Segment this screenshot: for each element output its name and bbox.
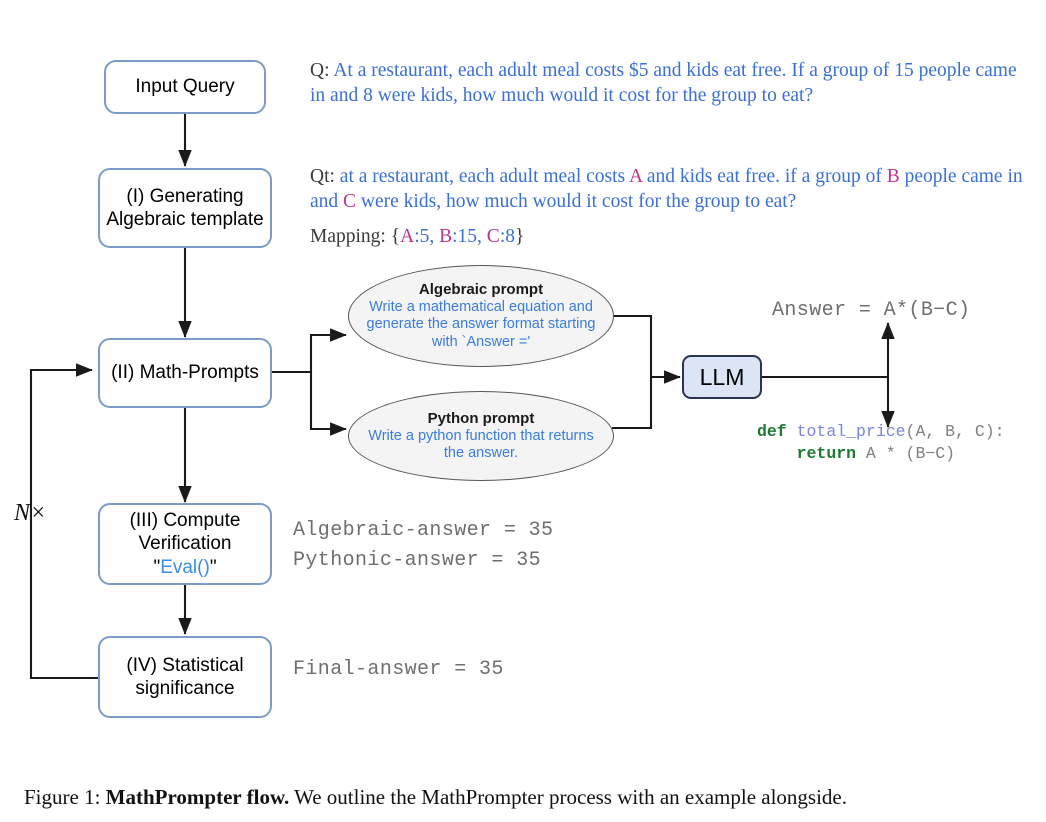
example-template-var-b: B (887, 166, 900, 187)
example-mapping-close: } (515, 226, 524, 247)
result-algebraic-answer: Algebraic-answer = 35 (293, 519, 553, 542)
line-python-to-merge (612, 377, 651, 428)
example-mapping-b-key: B (439, 226, 452, 247)
algebraic-prompt-body: Write a mathematical equation and genera… (357, 299, 606, 350)
arrow-to-algebraic-prompt (311, 335, 346, 372)
node-step3-line2: Verification (139, 533, 232, 554)
code-function-name: total_price (787, 422, 906, 441)
example-template-var-a: A (629, 166, 642, 187)
node-step1-line2: Algebraic template (106, 209, 263, 230)
algebraic-prompt-line1: Write a mathematical equation and (369, 299, 593, 315)
example-mapping-a-key: A (400, 226, 414, 247)
node-step3-compute-verification[interactable]: (III) Compute Verification "Eval()" (98, 503, 272, 585)
example-mapping-open: { (391, 226, 400, 247)
node-python-prompt[interactable]: Python prompt Write a python function th… (348, 391, 614, 481)
node-step4-line2: significance (135, 678, 234, 699)
node-step1-generating-algebraic-template[interactable]: (I) Generating Algebraic template (98, 168, 272, 248)
figure-caption-prefix: Figure 1: (24, 785, 100, 809)
code-keyword-return: return (797, 444, 856, 463)
example-template-var-c: C (343, 191, 356, 212)
code-signature: (A, B, C): (906, 422, 1005, 441)
python-prompt-title: Python prompt (428, 410, 535, 427)
example-mapping-c-key: C (487, 226, 500, 247)
node-step4-statistical-significance[interactable]: (IV) Statistical significance (98, 636, 272, 718)
node-step4-line1: (IV) Statistical (126, 655, 243, 676)
python-prompt-line2: the answer. (444, 445, 518, 461)
loop-multiplier-label: N× (14, 500, 46, 527)
figure-canvas: Input Query (I) Generating Algebraic tem… (0, 0, 1046, 822)
node-step2-math-prompts[interactable]: (II) Math-Prompts (98, 338, 272, 408)
answer-equation: Answer = A*(B−C) (772, 299, 970, 322)
node-llm[interactable]: LLM (682, 355, 762, 399)
example-template-l1b: and kids eat free. if a group of (642, 166, 887, 187)
example-question-tag: Q: (310, 60, 330, 81)
example-mapping-b-val: :15, (452, 226, 487, 247)
code-keyword-def: def (757, 422, 787, 441)
node-step3-label: (III) Compute Verification "Eval()" (124, 509, 247, 579)
example-question: Q: At a restaurant, each adult meal cost… (310, 58, 1025, 109)
code-indent (757, 444, 797, 463)
node-input-query-label: Input Query (129, 75, 240, 98)
example-template-l1a: at a restaurant, each adult meal costs (340, 166, 629, 187)
node-step4-label: (IV) Statistical significance (120, 654, 249, 700)
figure-caption-rest: We outline the MathPrompter process with… (294, 785, 847, 809)
line-algebraic-to-merge (612, 316, 651, 377)
node-step3-eval-code: Eval() (160, 557, 210, 578)
node-step3-eval-quote-close: " (210, 557, 217, 578)
result-pythonic-answer: Pythonic-answer = 35 (293, 549, 541, 572)
node-step1-line1: (I) Generating (126, 186, 243, 207)
figure-caption: Figure 1: MathPrompter flow. We outline … (24, 785, 847, 810)
result-final-answer: Final-answer = 35 (293, 658, 504, 681)
example-mapping-label: Mapping: (310, 226, 386, 247)
algebraic-prompt-line3: with `Answer =' (432, 334, 530, 350)
generated-python-code: def total_price(A, B, C): return A * (B−… (757, 421, 1005, 466)
node-step1-label: (I) Generating Algebraic template (100, 185, 269, 231)
node-llm-label: LLM (700, 364, 745, 391)
example-template: Qt: at a restaurant, each adult meal cos… (310, 164, 1025, 215)
example-mapping-a-val: :5, (414, 226, 439, 247)
figure-caption-bold: MathPrompter flow. (106, 785, 290, 809)
example-template-l2b: were kids, how much would it cost for th… (356, 191, 796, 212)
python-prompt-body: Write a python function that returns the… (358, 428, 603, 462)
code-expression: A * (B−C) (856, 444, 955, 463)
example-question-line1: At a restaurant, each adult meal costs $… (333, 60, 913, 81)
algebraic-prompt-title: Algebraic prompt (419, 281, 543, 298)
python-prompt-line1: Write a python function that returns (368, 428, 593, 444)
node-step3-line1: (III) Compute (130, 510, 241, 531)
example-mapping-c-val: :8 (500, 226, 515, 247)
node-input-query[interactable]: Input Query (104, 60, 266, 114)
example-mapping: Mapping: {A:5, B:15, C:8} (310, 224, 524, 249)
arrow-to-python-prompt (311, 372, 346, 429)
node-step2-label: (II) Math-Prompts (105, 361, 265, 384)
node-algebraic-prompt[interactable]: Algebraic prompt Write a mathematical eq… (348, 265, 614, 367)
example-template-tag: Qt: (310, 166, 335, 187)
algebraic-prompt-line2: generate the answer format starting (367, 316, 596, 332)
